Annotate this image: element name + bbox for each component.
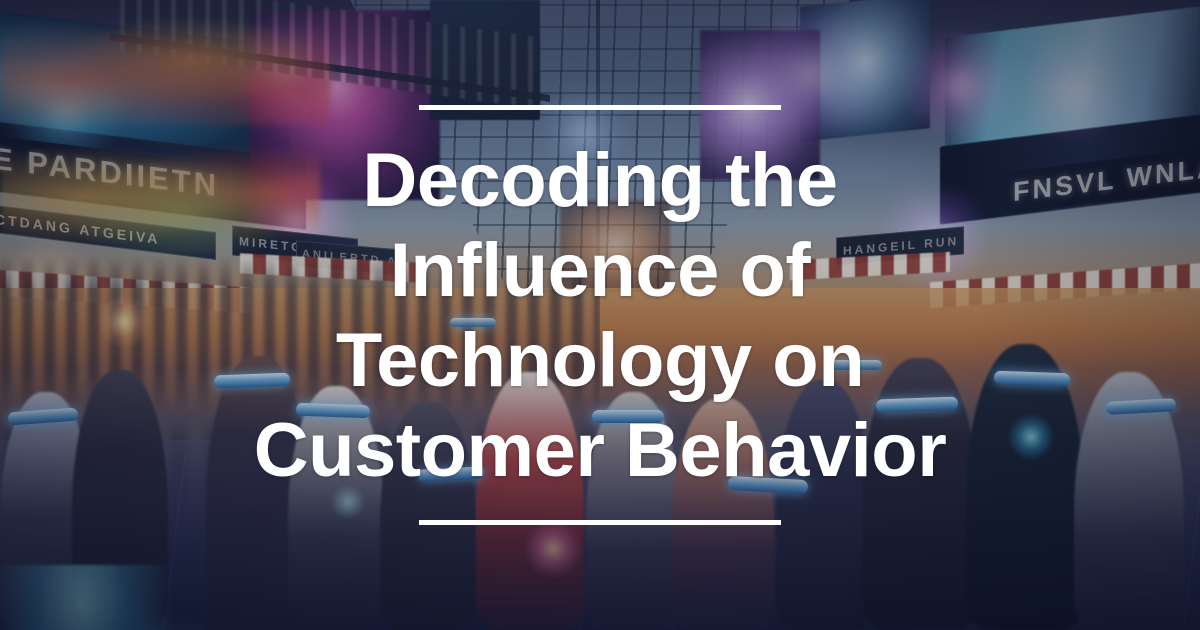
- page-title-line-3: Technology on: [254, 316, 947, 406]
- page-title: Decoding the Influence of Technology on …: [254, 136, 947, 496]
- blog-hero-banner: E PARDIIETN CTDANG ATGEIVA MIRETOA FNSVL…: [0, 0, 1200, 630]
- title-rule-bottom: [419, 520, 781, 525]
- page-title-line-4: Customer Behavior: [254, 406, 947, 496]
- title-rule-top: [419, 105, 781, 110]
- page-title-line-2: Influence of: [254, 226, 947, 316]
- page-title-line-1: Decoding the: [254, 136, 947, 226]
- hero-title-block: Decoding the Influence of Technology on …: [0, 0, 1200, 630]
